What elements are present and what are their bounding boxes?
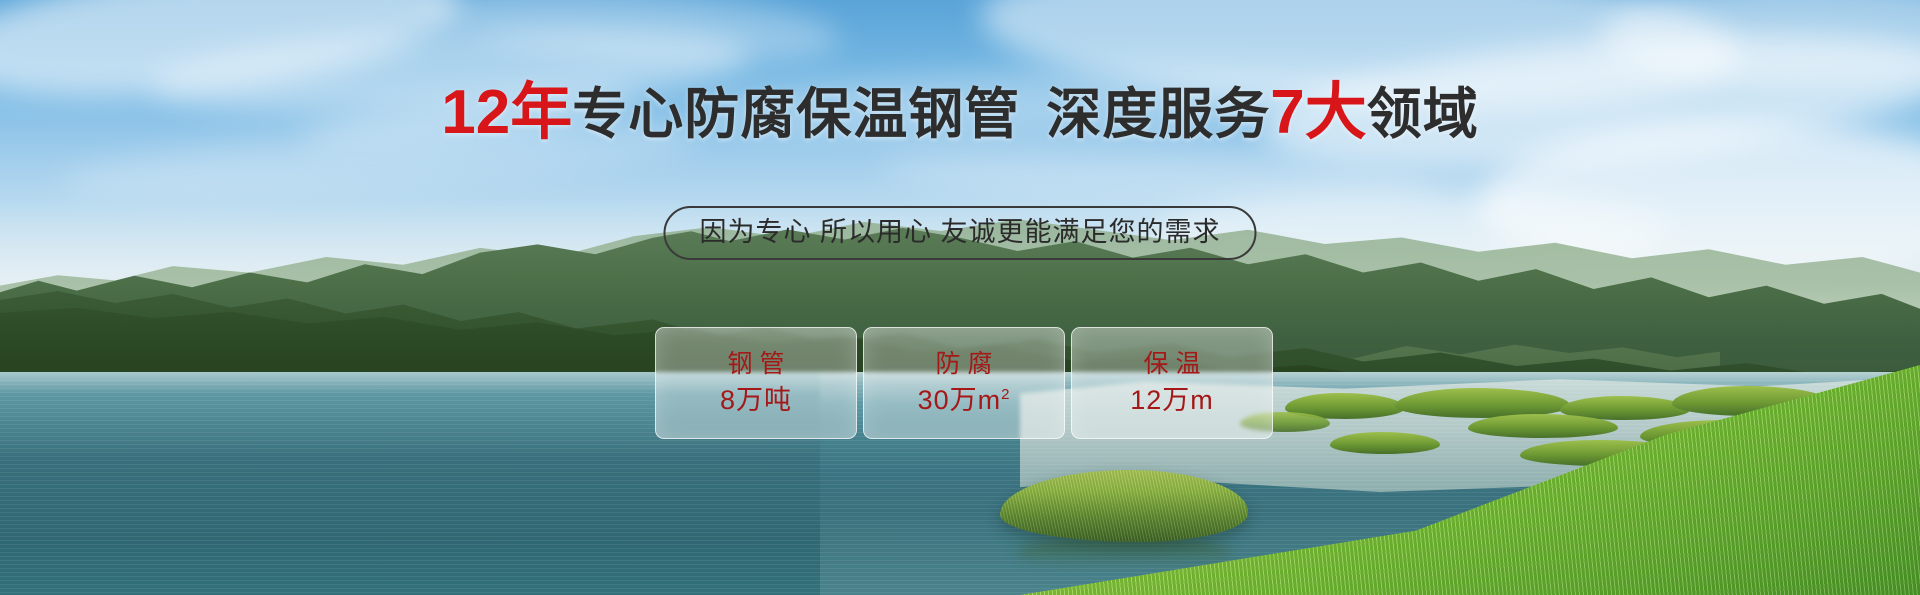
stat-card-value-sup: 2 [1001, 386, 1010, 403]
stat-card-steel-pipe[interactable]: 钢管 8万吨 [655, 327, 857, 439]
stat-card-value-text: 8万吨 [720, 385, 792, 415]
stat-card-insulation[interactable]: 保温 12万m [1071, 327, 1273, 439]
stat-card-value: 12万m [1130, 381, 1214, 419]
headline-service: 深度服务 [1046, 83, 1270, 145]
stat-card-value-text: 30万m [918, 385, 1002, 415]
headline-main: 专心防腐保温钢管 [572, 83, 1020, 145]
stat-card-value: 30万m2 [918, 381, 1011, 419]
headline-fields: 领域 [1367, 83, 1479, 145]
shore-grass-clump [1330, 432, 1440, 454]
banner-headline: 12年专心防腐保温钢管深度服务7大领域 [0, 82, 1920, 145]
stat-card-label: 防腐 [928, 347, 999, 381]
subtitle-pill: 因为专心 所以用心 友诚更能满足您的需求 [663, 206, 1256, 260]
shore-grass-clump [1468, 414, 1618, 438]
headline-years: 12年 [441, 78, 572, 147]
stat-card-anticorrosion[interactable]: 防腐 30万m2 [863, 327, 1065, 439]
stat-cards-group: 钢管 8万吨 防腐 30万m2 保温 12万m [655, 327, 1273, 439]
promo-banner: 12年专心防腐保温钢管深度服务7大领域 因为专心 所以用心 友诚更能满足您的需求… [0, 0, 1920, 595]
stat-card-label: 钢管 [720, 347, 791, 381]
stat-card-value-text: 12万m [1130, 385, 1214, 415]
headline-seven: 7大 [1270, 78, 1366, 147]
stat-card-label: 保温 [1136, 347, 1207, 381]
stat-card-value: 8万吨 [720, 381, 792, 419]
